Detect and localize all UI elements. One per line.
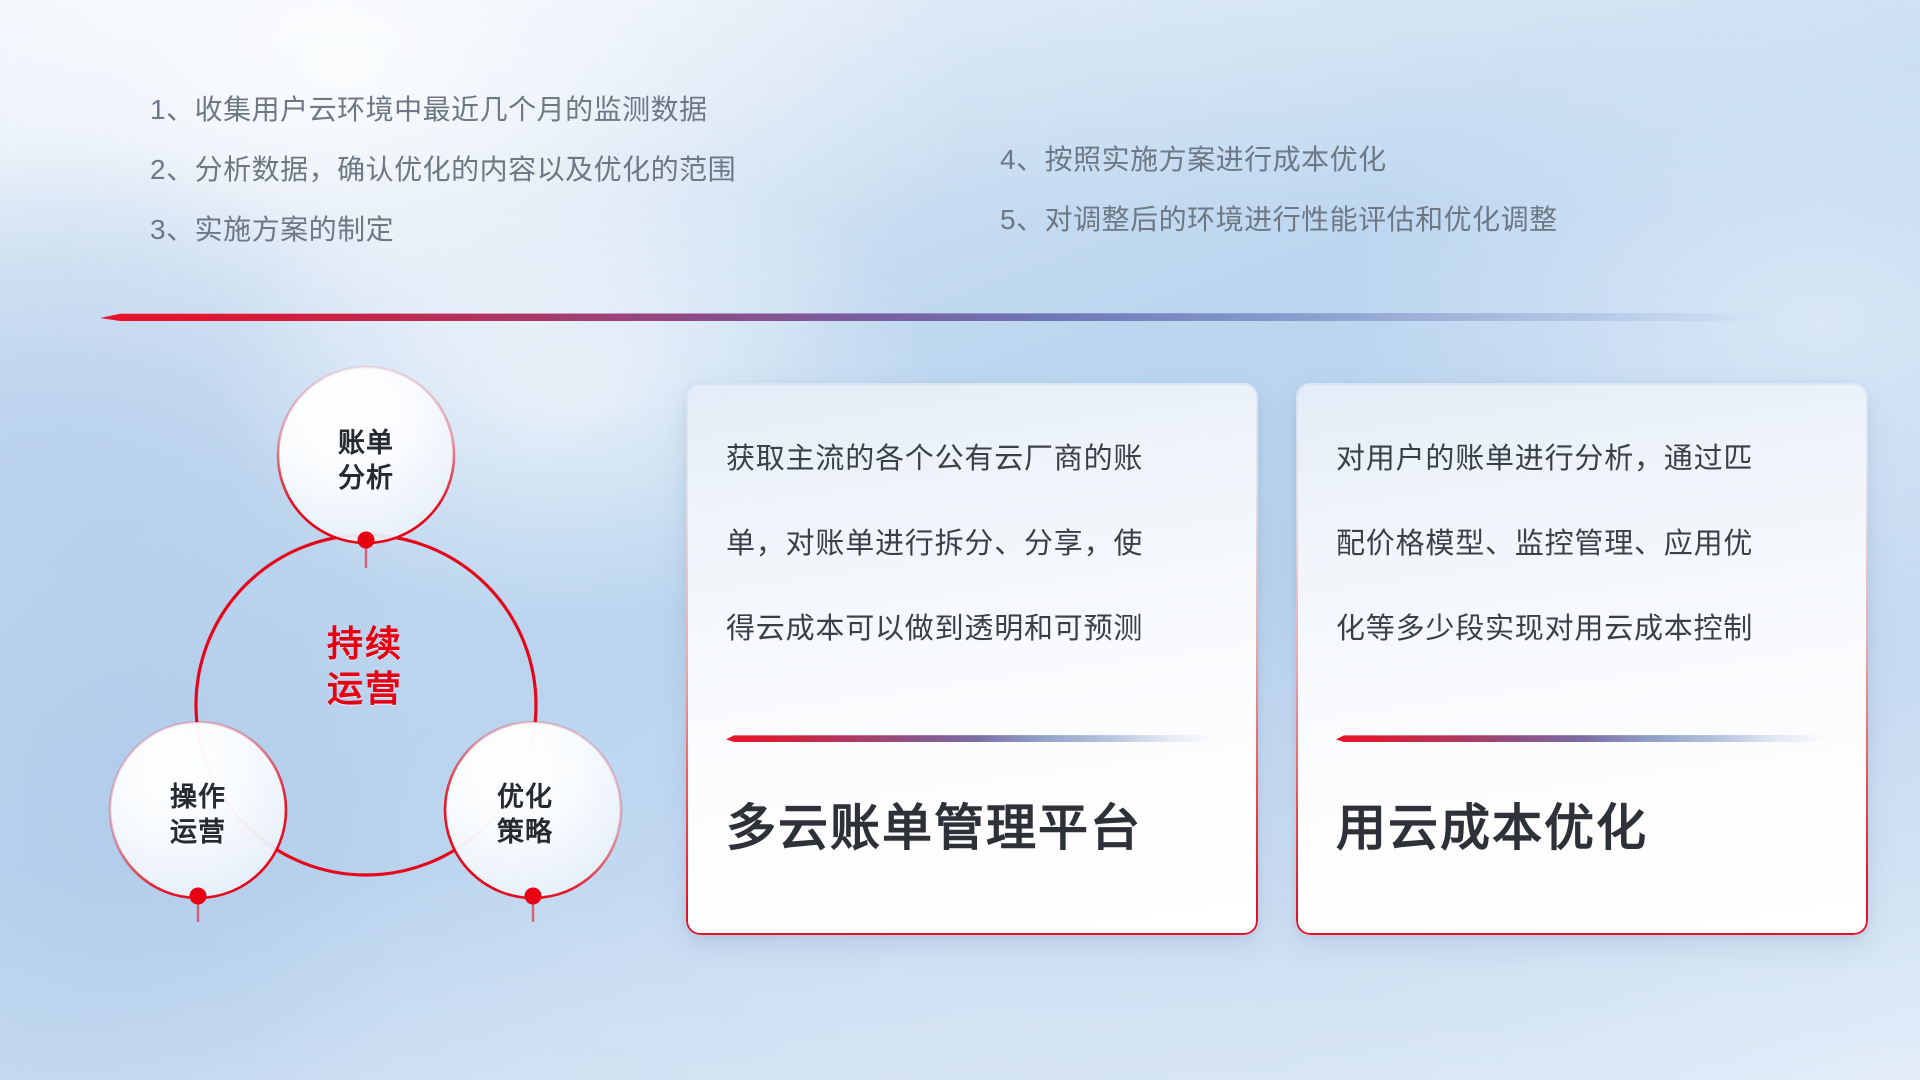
card-body: 获取主流的各个公有云厂商的账 单，对账单进行拆分、分享，使 得云成本可以做到透明… bbox=[726, 445, 1222, 700]
card-title: 用云成本优化 bbox=[1336, 801, 1832, 856]
venn-diagram-svg bbox=[90, 350, 650, 950]
card-body-line: 得云成本可以做到透明和可预测 bbox=[726, 615, 1222, 644]
list-item: 3、实施方案的制定 bbox=[150, 216, 736, 244]
steps-list-right: 4、按照实施方案进行成本优化 5、对调整后的环境进行性能评估和优化调整 bbox=[1000, 146, 1558, 266]
steps-list-left: 1、收集用户云环境中最近几个月的监测数据 2、分析数据，确认优化的内容以及优化的… bbox=[150, 96, 736, 276]
card-title: 多云账单管理平台 bbox=[726, 801, 1222, 856]
section-divider-bar bbox=[100, 313, 1770, 321]
venn-node-left-bubble bbox=[110, 722, 286, 898]
venn-dot-top bbox=[358, 532, 375, 549]
feature-card-multi-cloud-bill-management-platform[interactable]: 获取主流的各个公有云厂商的账 单，对账单进行拆分、分享，使 得云成本可以做到透明… bbox=[686, 383, 1258, 935]
card-divider bbox=[726, 735, 1218, 742]
list-item: 2、分析数据，确认优化的内容以及优化的范围 bbox=[150, 156, 736, 184]
list-item: 1、收集用户云环境中最近几个月的监测数据 bbox=[150, 96, 736, 124]
list-item: 5、对调整后的环境进行性能评估和优化调整 bbox=[1000, 206, 1558, 234]
list-item: 4、按照实施方案进行成本优化 bbox=[1000, 146, 1558, 174]
venn-diagram: 账单 分析 操作 运营 优化 策略 持续 运营 bbox=[90, 350, 650, 950]
feature-card-cloud-cost-optimization[interactable]: 对用户的账单进行分析，通过匹 配价格模型、监控管理、应用优 化等多少段实现对用云… bbox=[1296, 383, 1868, 935]
card-body-line: 单，对账单进行拆分、分享，使 bbox=[726, 530, 1222, 559]
card-body-line: 化等多少段实现对用云成本控制 bbox=[1336, 615, 1832, 644]
venn-node-top-bubble bbox=[278, 367, 454, 543]
card-divider-bar bbox=[1336, 735, 1828, 742]
card-body-line: 对用户的账单进行分析，通过匹 bbox=[1336, 445, 1832, 474]
card-body-line: 配价格模型、监控管理、应用优 bbox=[1336, 530, 1832, 559]
card-divider bbox=[1336, 735, 1828, 742]
section-divider bbox=[100, 313, 1770, 321]
card-body-line: 获取主流的各个公有云厂商的账 bbox=[726, 445, 1222, 474]
venn-dot-left bbox=[190, 888, 207, 905]
card-body: 对用户的账单进行分析，通过匹 配价格模型、监控管理、应用优 化等多少段实现对用云… bbox=[1336, 445, 1832, 700]
venn-dot-right bbox=[525, 888, 542, 905]
card-divider-bar bbox=[726, 735, 1218, 742]
venn-node-right-bubble bbox=[445, 722, 621, 898]
